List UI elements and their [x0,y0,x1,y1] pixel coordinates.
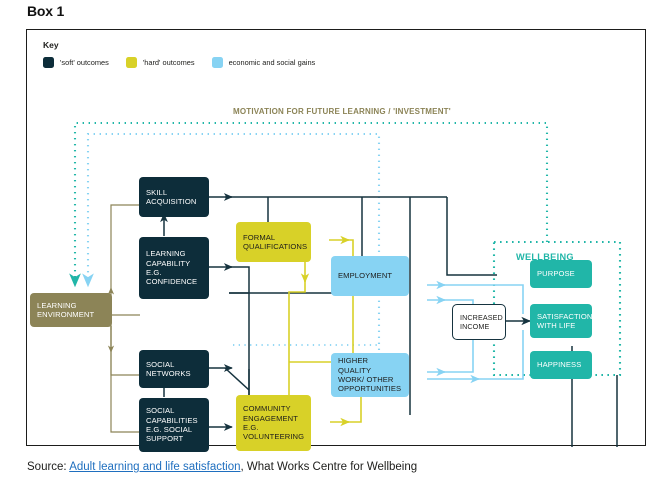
node-learning-capability-line3: E.G. [146,268,197,277]
node-community-engagement-line3: E.G. [243,423,304,432]
node-social-capabilities-line2: CAPABILITIES [146,416,198,425]
node-increased-income-line1: INCREASED [460,313,503,322]
node-higher-quality-work-line3: OPPORTUNITIES [338,384,402,393]
node-community-engagement-line1: COMMUNITY [243,404,304,413]
node-higher-quality-work-line2: WORK/ OTHER [338,375,402,384]
key-swatch-hard-outcomes [126,57,137,68]
node-learning-capability-line1: LEARNING [146,249,197,258]
node-community-engagement[interactable]: COMMUNITY ENGAGEMENT E.G. VOLUNTEERING [236,395,311,451]
node-higher-quality-work-line1: HIGHER QUALITY [338,356,402,375]
key-title: Key [43,40,332,50]
key-item-hard-outcomes: 'hard' outcomes [126,57,195,68]
node-learning-environment-line2: ENVIRONMENT [37,310,94,319]
source-prefix: Source: [27,461,69,473]
node-satisfaction-with-life-line2: WITH LIFE [537,321,593,330]
node-increased-income-line2: INCOME [460,322,503,331]
node-learning-environment-line1: LEARNING [37,301,94,310]
node-social-networks-line2: NETWORKS [146,369,191,378]
node-social-capabilities-line1: SOCIAL [146,406,198,415]
node-purpose-line1: PURPOSE [537,269,575,278]
page-title: Box 1 [27,3,64,19]
node-employment-line1: EMPLOYMENT [338,271,392,280]
key-label-soft-outcomes: 'soft' outcomes [60,58,109,67]
key-item-soft-outcomes: 'soft' outcomes [43,57,109,68]
key-swatch-economic-social-gains [212,57,223,68]
node-satisfaction-with-life-line1: SATISFACTION [537,312,593,321]
node-community-engagement-line4: VOLUNTEERING [243,432,304,441]
node-social-networks[interactable]: SOCIAL NETWORKS [139,350,209,388]
node-community-engagement-line2: ENGAGEMENT [243,414,304,423]
node-social-capabilities-line3: E.G. SOCIAL [146,425,198,434]
node-skill-acquisition[interactable]: SKILL ACQUISITION [139,177,209,217]
key-label-hard-outcomes: 'hard' outcomes [143,58,195,67]
node-learning-capability-line4: CONFIDENCE [146,277,197,286]
source-caption: Source: Adult learning and life satisfac… [27,461,417,473]
node-social-networks-line1: SOCIAL [146,360,191,369]
source-suffix: , What Works Centre for Wellbeing [241,461,418,473]
node-purpose[interactable]: PURPOSE [530,260,592,288]
node-formal-qualifications-line2: QUALIFICATIONS [243,242,307,251]
node-higher-quality-work[interactable]: HIGHER QUALITY WORK/ OTHER OPPORTUNITIES [331,353,409,397]
figure-page: Box 1 Key 'soft' outcomes 'hard' outcome… [0,0,671,502]
node-skill-acquisition-line2: ACQUISITION [146,197,196,206]
node-formal-qualifications[interactable]: FORMAL QUALIFICATIONS [236,222,311,262]
node-satisfaction-with-life[interactable]: SATISFACTION WITH LIFE [530,304,592,338]
node-social-capabilities[interactable]: SOCIAL CAPABILITIES E.G. SOCIAL SUPPORT [139,398,209,452]
node-learning-capability[interactable]: LEARNING CAPABILITY E.G. CONFIDENCE [139,237,209,299]
key-legend: Key 'soft' outcomes 'hard' outcomes econ… [43,40,332,68]
node-happiness[interactable]: HAPPINESS [530,351,592,379]
motivation-flow-label-line1: MOTIVATION FOR FUTURE [233,107,340,116]
node-skill-acquisition-line1: SKILL [146,188,196,197]
node-employment[interactable]: EMPLOYMENT [331,256,409,296]
node-increased-income[interactable]: INCREASED INCOME [452,304,506,340]
node-formal-qualifications-line1: FORMAL [243,233,307,242]
figure-frame: Key 'soft' outcomes 'hard' outcomes econ… [26,29,646,446]
key-items: 'soft' outcomes 'hard' outcomes economic… [43,57,332,68]
node-social-capabilities-line4: SUPPORT [146,434,198,443]
motivation-flow-label: MOTIVATION FOR FUTURE LEARNING / 'INVEST… [233,106,451,118]
source-link[interactable]: Adult learning and life satisfaction [69,461,240,473]
key-item-economic-social-gains: economic and social gains [212,57,316,68]
motivation-flow-label-line2: LEARNING / 'INVESTMENT' [342,107,450,116]
key-label-economic-social-gains: economic and social gains [229,58,316,67]
node-happiness-line1: HAPPINESS [537,360,581,369]
node-learning-environment[interactable]: LEARNING ENVIRONMENT [30,293,112,327]
node-learning-capability-line2: CAPABILITY [146,259,197,268]
key-swatch-soft-outcomes [43,57,54,68]
